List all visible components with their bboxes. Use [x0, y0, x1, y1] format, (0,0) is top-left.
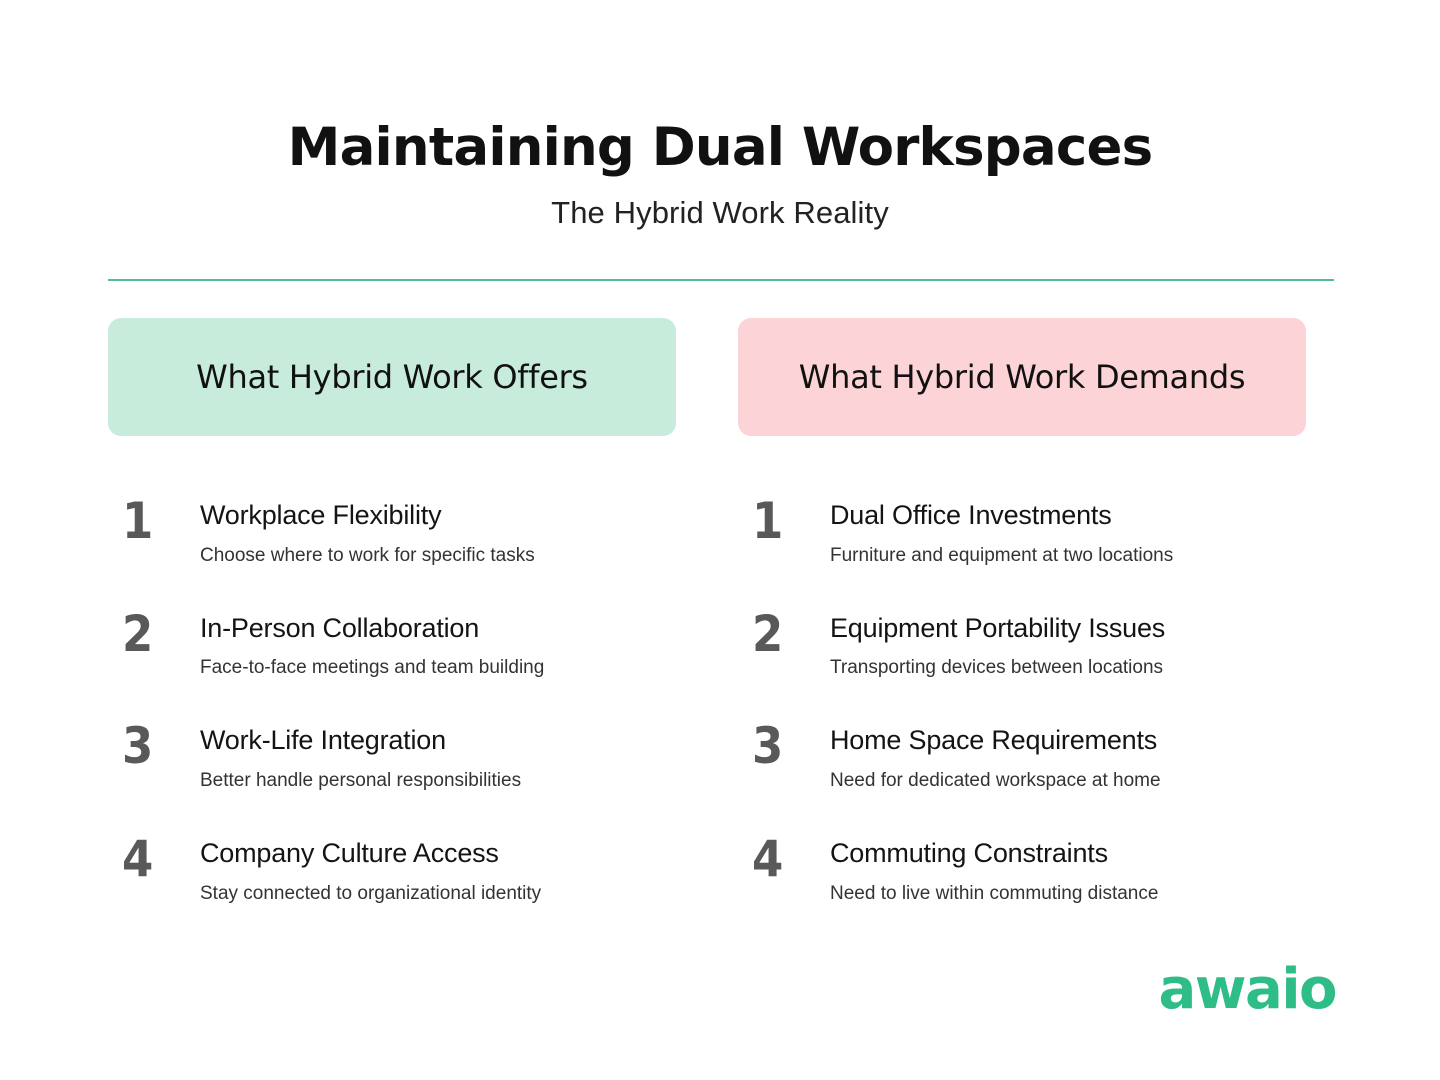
- list-item-description: Transporting devices between locations: [830, 656, 1306, 681]
- list-item-number: 1: [752, 498, 830, 544]
- list-item-number: 3: [752, 723, 830, 769]
- list-item-description: Need for dedicated workspace at home: [830, 769, 1306, 794]
- column-header-demands-label: What Hybrid Work Demands: [799, 358, 1245, 396]
- column-header-offers: What Hybrid Work Offers: [108, 318, 676, 436]
- comparison-columns: What Hybrid Work Offers 1 Workplace Flex…: [0, 318, 1440, 906]
- list-item-title: In-Person Collaboration: [200, 613, 676, 645]
- column-header-offers-label: What Hybrid Work Offers: [196, 358, 588, 396]
- list-item-description: Better handle personal responsibilities: [200, 769, 676, 794]
- list-item-number: 1: [122, 498, 200, 544]
- header-divider: [108, 279, 1334, 281]
- list-item: 2 Equipment Portability Issues Transport…: [752, 611, 1306, 682]
- list-item-body: In-Person Collaboration Face-to-face mee…: [200, 611, 676, 682]
- offers-item-list: 1 Workplace Flexibility Choose where to …: [108, 498, 676, 906]
- awaio-logo: awaio: [1159, 962, 1336, 1018]
- list-item-description: Stay connected to organizational identit…: [200, 882, 676, 907]
- list-item-title: Workplace Flexibility: [200, 500, 676, 532]
- list-item-description: Face-to-face meetings and team building: [200, 656, 676, 681]
- column-offers: What Hybrid Work Offers 1 Workplace Flex…: [108, 318, 676, 906]
- list-item-number: 3: [122, 723, 200, 769]
- page-title: Maintaining Dual Workspaces: [0, 118, 1440, 178]
- list-item-title: Work-Life Integration: [200, 725, 676, 757]
- list-item: 1 Workplace Flexibility Choose where to …: [122, 498, 676, 569]
- list-item: 2 In-Person Collaboration Face-to-face m…: [122, 611, 676, 682]
- demands-item-list: 1 Dual Office Investments Furniture and …: [738, 498, 1306, 906]
- list-item-number: 4: [752, 836, 830, 882]
- list-item: 3 Home Space Requirements Need for dedic…: [752, 723, 1306, 794]
- list-item-number: 2: [122, 611, 200, 657]
- list-item: 4 Company Culture Access Stay connected …: [122, 836, 676, 907]
- header-block: Maintaining Dual Workspaces The Hybrid W…: [0, 118, 1440, 232]
- list-item-title: Home Space Requirements: [830, 725, 1306, 757]
- column-header-demands: What Hybrid Work Demands: [738, 318, 1306, 436]
- list-item-title: Commuting Constraints: [830, 838, 1306, 870]
- list-item-title: Dual Office Investments: [830, 500, 1306, 532]
- list-item-body: Dual Office Investments Furniture and eq…: [830, 498, 1306, 569]
- list-item-description: Need to live within commuting distance: [830, 882, 1306, 907]
- list-item-body: Equipment Portability Issues Transportin…: [830, 611, 1306, 682]
- list-item-description: Choose where to work for specific tasks: [200, 544, 676, 569]
- page-subtitle: The Hybrid Work Reality: [0, 194, 1440, 231]
- list-item-description: Furniture and equipment at two locations: [830, 544, 1306, 569]
- list-item-number: 2: [752, 611, 830, 657]
- list-item-body: Commuting Constraints Need to live withi…: [830, 836, 1306, 907]
- list-item-body: Workplace Flexibility Choose where to wo…: [200, 498, 676, 569]
- list-item-body: Company Culture Access Stay connected to…: [200, 836, 676, 907]
- list-item: 1 Dual Office Investments Furniture and …: [752, 498, 1306, 569]
- infographic-slide: Maintaining Dual Workspaces The Hybrid W…: [0, 0, 1440, 1080]
- list-item: 4 Commuting Constraints Need to live wit…: [752, 836, 1306, 907]
- list-item-body: Home Space Requirements Need for dedicat…: [830, 723, 1306, 794]
- list-item-title: Equipment Portability Issues: [830, 613, 1306, 645]
- list-item-title: Company Culture Access: [200, 838, 676, 870]
- list-item-body: Work-Life Integration Better handle pers…: [200, 723, 676, 794]
- column-demands: What Hybrid Work Demands 1 Dual Office I…: [738, 318, 1306, 906]
- list-item-number: 4: [122, 836, 200, 882]
- list-item: 3 Work-Life Integration Better handle pe…: [122, 723, 676, 794]
